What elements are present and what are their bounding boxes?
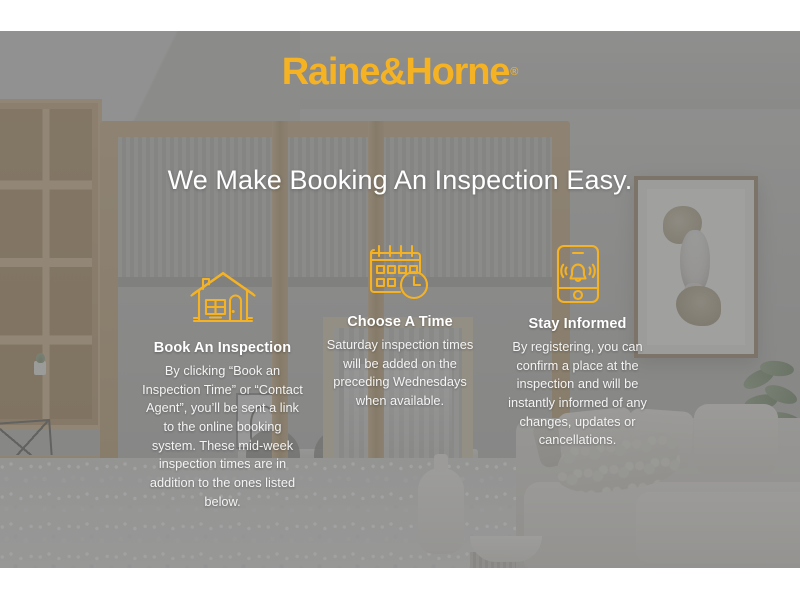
feature-column-stay-informed: Stay Informed By registering, you can co… bbox=[495, 238, 660, 450]
feature-column-choose-a-time: Choose A Time Saturday inspection times … bbox=[325, 236, 475, 411]
logo-wordmark: Raine&Horne bbox=[282, 51, 510, 93]
feature-body: By clicking “Book an Inspection Time” or… bbox=[140, 362, 305, 511]
feature-title: Stay Informed bbox=[529, 316, 627, 332]
feature-title: Book An Inspection bbox=[154, 340, 291, 356]
page-root: Raine&Horne® We Make Booking An Inspecti… bbox=[0, 0, 800, 600]
hero-content: Raine&Horne® We Make Booking An Inspecti… bbox=[0, 31, 800, 568]
calendar-clock-icon bbox=[368, 236, 432, 308]
feature-body: By registering, you can confirm a place … bbox=[495, 338, 660, 450]
hero-banner: Raine&Horne® We Make Booking An Inspecti… bbox=[0, 31, 800, 568]
feature-column-book-an-inspection: Book An Inspection By clicking “Book an … bbox=[140, 262, 305, 511]
feature-body: Saturday inspection times will be added … bbox=[325, 336, 475, 411]
feature-columns: Book An Inspection By clicking “Book an … bbox=[140, 236, 660, 511]
feature-title: Choose A Time bbox=[347, 314, 453, 330]
phone-bell-icon bbox=[555, 238, 601, 310]
registered-trademark-icon: ® bbox=[510, 66, 518, 78]
raine-and-horne-logo[interactable]: Raine&Horne® bbox=[0, 53, 800, 91]
page-title: We Make Booking An Inspection Easy. bbox=[0, 166, 800, 196]
house-icon bbox=[190, 262, 256, 334]
